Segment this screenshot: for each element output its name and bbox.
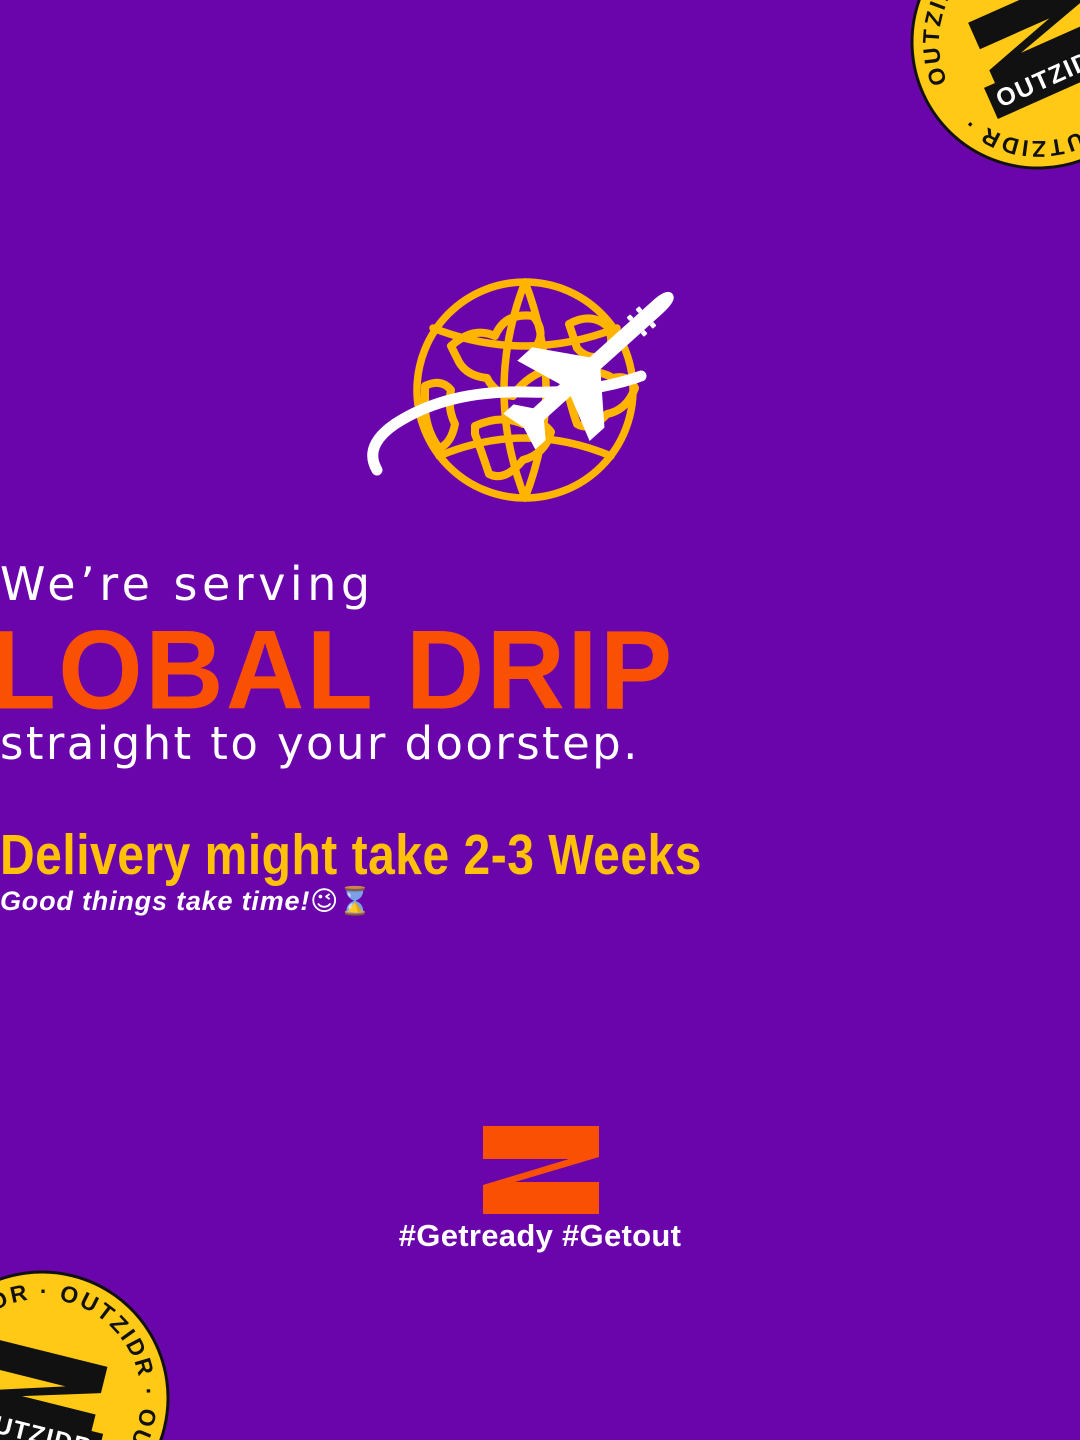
globe-airplane-illustration <box>355 268 725 518</box>
eyebrow-text: We’re serving <box>0 556 1080 612</box>
delivery-notice: Delivery might take 2-3 Weeks <box>0 822 1080 890</box>
z-monogram-logo <box>479 1124 603 1216</box>
outzidr-sticker-bottom-left: OUTZIDR · OUTZIDR · OUTZIDR · OUTZIDR · … <box>0 1268 172 1440</box>
delivery-tagline: Good things take time!😉⌛ <box>0 882 1080 921</box>
page-title: GLOBAL DRIP <box>0 612 1080 729</box>
delivery-tagline-text: Good things take time! <box>0 886 310 916</box>
wink-hourglass-emoji: 😉⌛ <box>310 886 372 917</box>
subheadline-text: straight to your doorstep. <box>0 716 1080 772</box>
hashtag-line: #Getready #Getout <box>0 1218 1080 1254</box>
poster-canvas: We’re serving GLOBAL DRIP straight to yo… <box>0 0 1080 1440</box>
outzidr-sticker-top-right: OUTZIDR · OUTZIDR · OUTZIDR · OUTZIDR · … <box>908 0 1080 172</box>
